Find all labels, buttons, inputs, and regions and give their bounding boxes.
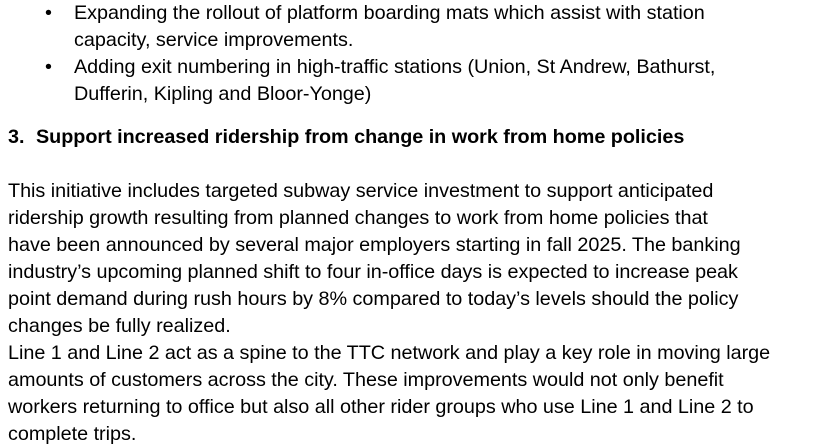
section-heading: 3.Support increased ridership from chang… <box>8 124 808 150</box>
paragraph-lines: Line 1 and Line 2 act as a spine to the … <box>8 340 798 448</box>
list-item: • Adding exit numbering in high-traffic … <box>0 54 820 108</box>
bullet-list: • Expanding the rollout of platform boar… <box>0 0 820 108</box>
document-page: • Expanding the rollout of platform boar… <box>0 0 820 421</box>
section-heading-text: Support increased ridership from change … <box>36 126 684 148</box>
list-item-text: Adding exit numbering in high-traffic st… <box>74 54 736 108</box>
bullet-point-icon: • <box>45 54 55 81</box>
bullet-point-icon: • <box>45 0 55 27</box>
list-item: • Expanding the rollout of platform boar… <box>0 0 820 54</box>
section-number: 3. <box>8 124 36 150</box>
paragraph-initiative: This initiative includes targeted subway… <box>8 178 751 340</box>
list-item-text: Expanding the rollout of platform boardi… <box>74 0 736 54</box>
